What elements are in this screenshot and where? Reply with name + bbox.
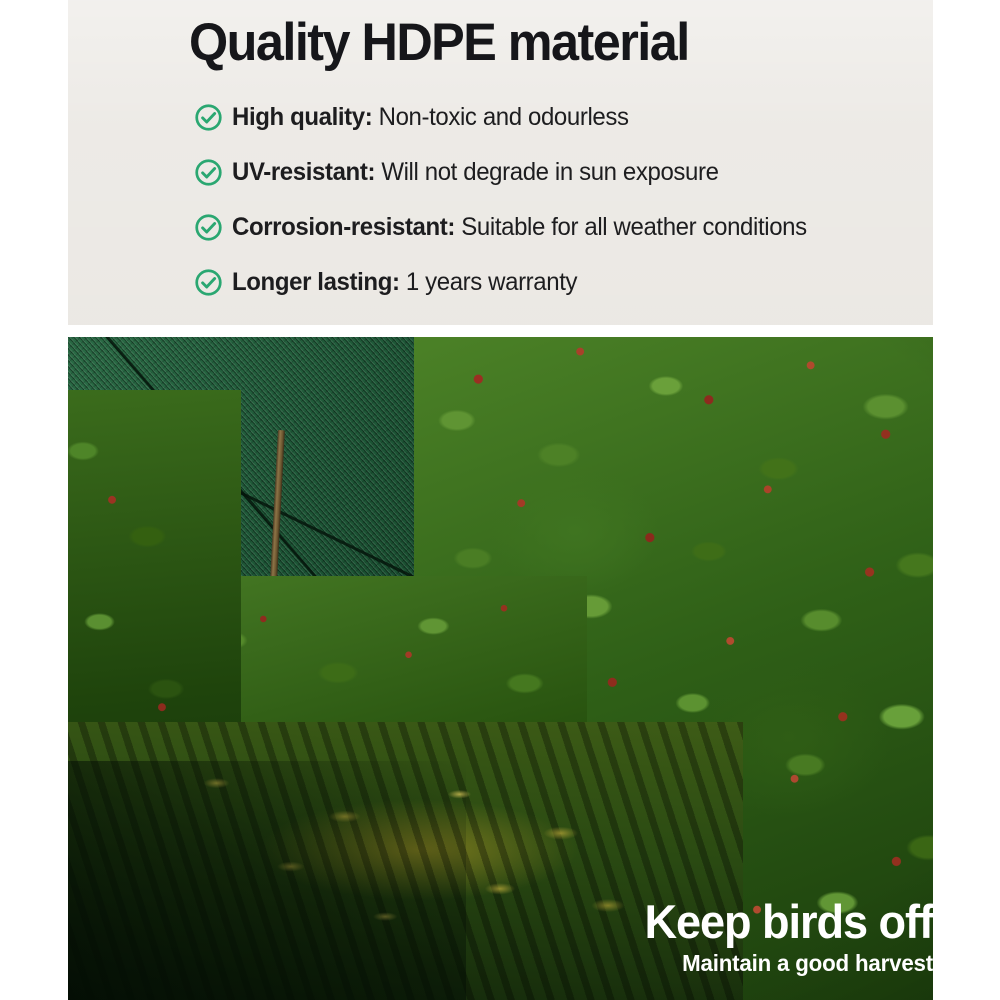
orchard-photo-panel: Keep birds off Maintain a good harvest: [68, 337, 933, 1000]
feature-item-text: Corrosion-resistant: Suitable for all we…: [232, 214, 807, 240]
feature-item-uv-resistant: UV-resistant: Will not degrade in sun ex…: [194, 145, 933, 200]
check-circle-icon: [194, 213, 223, 242]
caption-title: Keep birds off: [103, 898, 933, 947]
hdpe-material-panel: Quality HDPE material High quality: Non-…: [68, 0, 933, 325]
product-feature-image: Quality HDPE material High quality: Non-…: [0, 0, 1000, 1000]
check-circle-icon: [194, 268, 223, 297]
feature-item-detail: Will not degrade in sun exposure: [381, 158, 718, 186]
check-circle-icon: [194, 103, 223, 132]
feature-item-high-quality: High quality: Non-toxic and odourless: [194, 90, 933, 145]
page-title: Quality HDPE material: [189, 16, 689, 69]
feature-item-text: Longer lasting: 1 years warranty: [232, 269, 577, 295]
orchard-caption: Keep birds off Maintain a good harvest: [68, 898, 933, 976]
check-circle-icon: [194, 158, 223, 187]
caption-subtitle: Maintain a good harvest: [94, 951, 933, 976]
feature-item-lead: Longer lasting:: [232, 268, 400, 296]
feature-item-longer-lasting: Longer lasting: 1 years warranty: [194, 255, 933, 310]
feature-item-lead: Corrosion-resistant:: [232, 213, 455, 241]
feature-item-lead: High quality:: [232, 103, 372, 131]
feature-list: High quality: Non-toxic and odourless UV…: [194, 90, 933, 310]
feature-item-text: High quality: Non-toxic and odourless: [232, 104, 629, 130]
feature-item-detail: Suitable for all weather conditions: [461, 213, 806, 241]
feature-item-detail: Non-toxic and odourless: [379, 103, 629, 131]
feature-item-lead: UV-resistant:: [232, 158, 375, 186]
feature-item-detail: 1 years warranty: [406, 268, 577, 296]
feature-item-text: UV-resistant: Will not degrade in sun ex…: [232, 159, 719, 185]
feature-item-corrosion-resistant: Corrosion-resistant: Suitable for all we…: [194, 200, 933, 255]
